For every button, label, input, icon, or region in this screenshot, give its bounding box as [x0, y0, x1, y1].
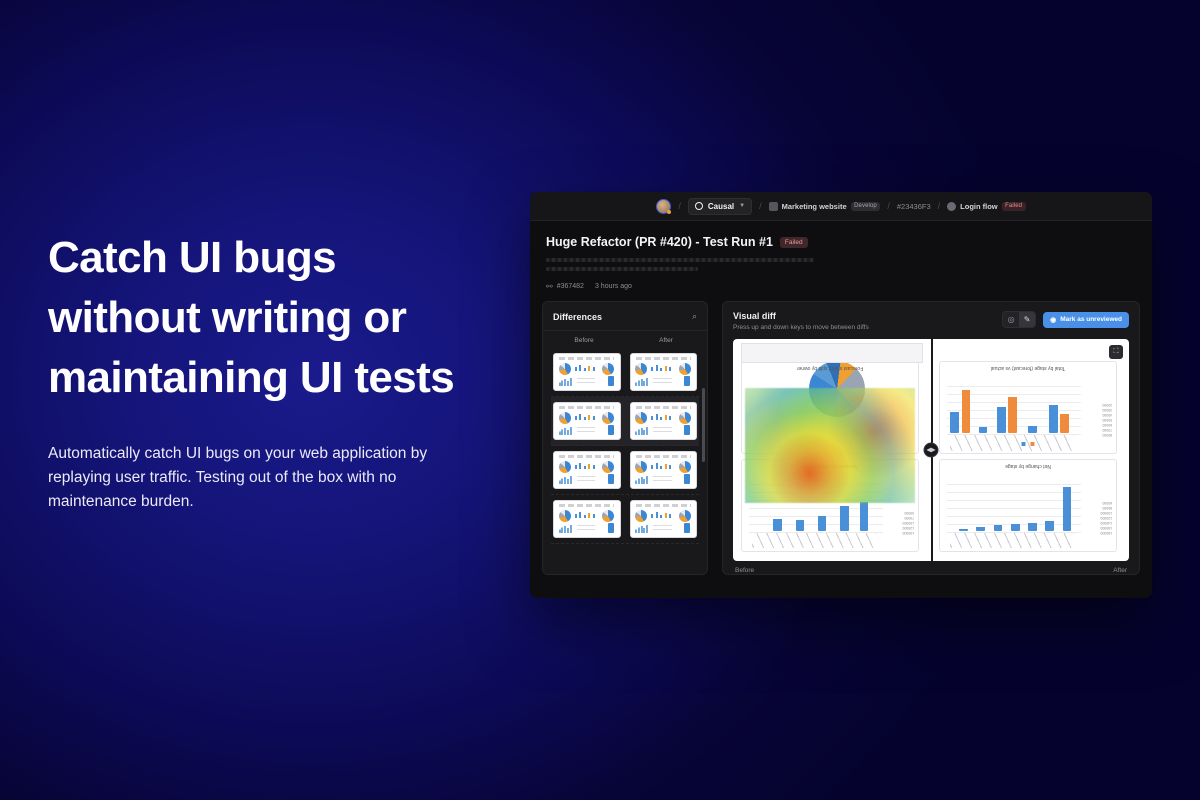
mini-pie-chart [635, 510, 647, 522]
mini-pie-chart [679, 363, 691, 375]
chart-title: Total by stage (forecast) vs actual [940, 365, 1116, 371]
bar [1008, 397, 1017, 433]
app-topbar: / Causal ▼ / Marketing website Develop /… [530, 192, 1152, 221]
bar [860, 502, 869, 531]
thumbnail-before[interactable] [553, 500, 621, 538]
mini-text-lines [653, 476, 671, 485]
app-body: Differences ⌕ Before After [530, 301, 1152, 587]
list-item[interactable] [551, 495, 699, 544]
mini-pie-chart [559, 510, 571, 522]
mark-as-unreviewed-button[interactable]: ◉ Mark as unreviewed [1043, 312, 1129, 328]
visual-diff-titles: Visual diff Press up and down keys to mo… [733, 311, 869, 331]
pen-icon[interactable]: ✎ [1019, 312, 1035, 327]
mini-pie-chart [559, 363, 571, 375]
chart-x-labels [752, 532, 875, 548]
chart-total-by-stage: 80000700006000050000400003000020000 [939, 361, 1117, 454]
run-title: Huge Refactor (PR #420) - Test Run #1 [546, 235, 773, 249]
bar [1028, 426, 1037, 434]
mini-pie-chart [679, 461, 691, 473]
page-title: Catch UI bugs without writing or maintai… [48, 228, 478, 408]
bar [1045, 521, 1054, 531]
column-header-after: After [625, 337, 707, 344]
bar [997, 407, 1006, 433]
diff-heatmap-overlay [745, 388, 915, 503]
mini-bar-chart [575, 413, 597, 420]
mini-pie-chart [602, 510, 614, 522]
chart-y-ticks: 80000700006000050000400003000020000 [1102, 402, 1112, 437]
chart-bars [950, 484, 1073, 531]
mini-bar-chart [651, 511, 673, 518]
bar [979, 427, 988, 434]
mini-text-lines [653, 378, 671, 387]
mini-text-lines [577, 525, 595, 534]
chart-title: Net change by stage [940, 463, 1116, 469]
mini-pie-chart [602, 412, 614, 424]
mini-bar-chart [635, 475, 649, 484]
mini-kpi-block [684, 523, 690, 534]
mini-text-lines [577, 427, 595, 436]
bar [1063, 487, 1072, 531]
breadcrumb-separator: / [887, 201, 890, 211]
bar [818, 516, 827, 531]
thumbnail-after[interactable] [630, 353, 698, 391]
view-mode-toggle[interactable]: ◎ ✎ [1002, 311, 1036, 328]
breadcrumb-project[interactable]: Marketing website Develop [769, 202, 881, 211]
column-header-before: Before [543, 337, 625, 344]
commit-id: #367482 [557, 283, 584, 290]
thumbnail-before[interactable] [553, 353, 621, 391]
chart-title: Forecast spend split by owner [742, 365, 918, 371]
run-title-row: Huge Refactor (PR #420) - Test Run #1 Fa… [546, 235, 1136, 249]
mini-pie-chart [635, 363, 647, 375]
org-label: Causal [708, 202, 734, 211]
visual-diff-footer: Before After [723, 561, 1139, 574]
mini-bar-chart [559, 524, 573, 533]
thumbnail-after[interactable] [630, 402, 698, 440]
chevron-down-icon: ▼ [739, 203, 745, 209]
visual-diff-after-pane[interactable]: 1800001600001400001200001000008000060000… [931, 339, 1129, 561]
footer-label-after: After [1113, 567, 1127, 574]
mini-bar-chart [635, 377, 649, 386]
mini-kpi-block [608, 425, 614, 436]
project-env-tag: Develop [851, 202, 881, 211]
thumbnail-after[interactable] [630, 500, 698, 538]
bar [994, 525, 1003, 531]
bar [976, 527, 985, 531]
mini-bar-chart [559, 377, 573, 386]
commit-icon: ⚯ [546, 282, 553, 291]
mini-text-lines [653, 525, 671, 534]
breadcrumb-separator: / [938, 201, 941, 211]
visual-diff-subtitle: Press up and down keys to move between d… [733, 324, 869, 331]
list-item[interactable] [551, 446, 699, 495]
breadcrumb-separator: / [759, 201, 762, 211]
mark-as-unreviewed-label: Mark as unreviewed [1060, 316, 1122, 323]
mini-kpi-block [684, 425, 690, 436]
mini-bar-chart [575, 462, 597, 469]
skeleton-line [546, 258, 814, 262]
list-item[interactable] [551, 397, 699, 446]
scrollbar[interactable] [702, 388, 705, 462]
mini-text-lines [577, 378, 595, 387]
mini-bar-chart [651, 364, 673, 371]
mini-pie-chart [679, 412, 691, 424]
avatar-icon[interactable] [656, 199, 671, 214]
description-placeholder [546, 258, 1136, 271]
bar [1049, 405, 1058, 433]
mini-bar-chart [651, 413, 673, 420]
visual-diff-header: Visual diff Press up and down keys to mo… [723, 302, 1139, 339]
list-item[interactable] [551, 348, 699, 397]
visual-diff-panel: Visual diff Press up and down keys to mo… [722, 301, 1140, 575]
bar [962, 390, 971, 434]
mini-bar-chart [575, 364, 597, 371]
mini-kpi-block [684, 474, 690, 485]
footer-label-before: Before [735, 567, 754, 574]
circle-icon [695, 202, 703, 210]
mini-kpi-block [684, 376, 690, 387]
breadcrumb-flow[interactable]: Login flow Failed [947, 202, 1025, 211]
hero-description: Automatically catch UI bugs on your web … [48, 442, 440, 514]
mini-kpi-block [608, 474, 614, 485]
thumbnail-after[interactable] [630, 451, 698, 489]
bar [796, 520, 805, 531]
chart-y-ticks: 1500001250001000007500050000 [902, 510, 914, 535]
mini-pie-chart [602, 363, 614, 375]
org-selector[interactable]: Causal ▼ [688, 198, 752, 215]
project-label: Marketing website [782, 202, 847, 211]
bar [959, 529, 968, 531]
bar [840, 506, 849, 531]
chart-net-change-by-stage: 1800001600001400001200001000008000060000… [939, 459, 1117, 552]
chart-x-labels [950, 434, 1073, 450]
mini-pie-chart [635, 461, 647, 473]
search-icon[interactable]: ⌕ [692, 311, 697, 322]
mini-pie-chart [679, 510, 691, 522]
mini-pie-chart [635, 412, 647, 424]
mini-pie-chart [602, 461, 614, 473]
globe-icon [947, 202, 956, 211]
calendar-icon [769, 202, 778, 211]
mini-bar-chart [635, 524, 649, 533]
dashboard-footer [741, 343, 923, 363]
differences-title: Differences [553, 312, 602, 322]
bar [1028, 523, 1037, 532]
thumbnail-before[interactable] [553, 451, 621, 489]
breadcrumb-separator: / [678, 201, 681, 211]
flow-label: Login flow [960, 202, 998, 211]
app-window: / Causal ▼ / Marketing website Develop /… [530, 192, 1152, 598]
breadcrumb-commit-hash[interactable]: #23436F3 [897, 202, 931, 211]
thumbnail-before[interactable] [553, 402, 621, 440]
bar [773, 519, 782, 531]
run-meta: ⚯ #367482 3 hours ago [546, 282, 1136, 291]
commit-meta[interactable]: ⚯ #367482 [546, 282, 584, 291]
diff-slider-handle[interactable]: ◀▶ [924, 443, 939, 458]
skeleton-line [546, 267, 698, 271]
mini-pie-chart [559, 412, 571, 424]
differences-column-headers: Before After [543, 331, 707, 348]
run-header: Huge Refactor (PR #420) - Test Run #1 Fa… [530, 221, 1152, 301]
mini-text-lines [577, 476, 595, 485]
mini-bar-chart [635, 426, 649, 435]
mini-kpi-block [608, 376, 614, 387]
chart-bars [950, 386, 1073, 433]
mini-bar-chart [575, 511, 597, 518]
hero-copy: Catch UI bugs without writing or maintai… [48, 228, 478, 514]
bar [1060, 414, 1069, 433]
visual-diff-title: Visual diff [733, 311, 869, 321]
flow-status-tag: Failed [1002, 202, 1026, 211]
visual-diff-before-pane[interactable]: 1500001250001000007500050000 Revenue by … [733, 339, 931, 561]
expand-icon[interactable]: ⛶ [1109, 345, 1123, 359]
visual-diff-actions: ◎ ✎ ◉ Mark as unreviewed [1002, 311, 1129, 328]
check-circle-icon: ◉ [1050, 316, 1056, 324]
differences-list[interactable] [543, 348, 707, 574]
chart-x-labels [950, 532, 1073, 548]
mini-bar-chart [559, 475, 573, 484]
chart-y-ticks: 1800001600001400001200001000008000060000 [1100, 500, 1112, 535]
differences-panel: Differences ⌕ Before After [542, 301, 708, 575]
bar [950, 412, 959, 434]
bar [1011, 524, 1020, 531]
run-timestamp: 3 hours ago [595, 283, 632, 290]
mini-kpi-block [608, 523, 614, 534]
visual-diff-canvas[interactable]: 1500001250001000007500050000 Revenue by … [733, 339, 1129, 561]
status-badge: Failed [780, 237, 808, 248]
differences-header: Differences ⌕ [543, 302, 707, 331]
mini-bar-chart [559, 426, 573, 435]
eye-icon[interactable]: ◎ [1003, 312, 1019, 327]
mini-text-lines [653, 427, 671, 436]
mini-pie-chart [559, 461, 571, 473]
mini-bar-chart [651, 462, 673, 469]
